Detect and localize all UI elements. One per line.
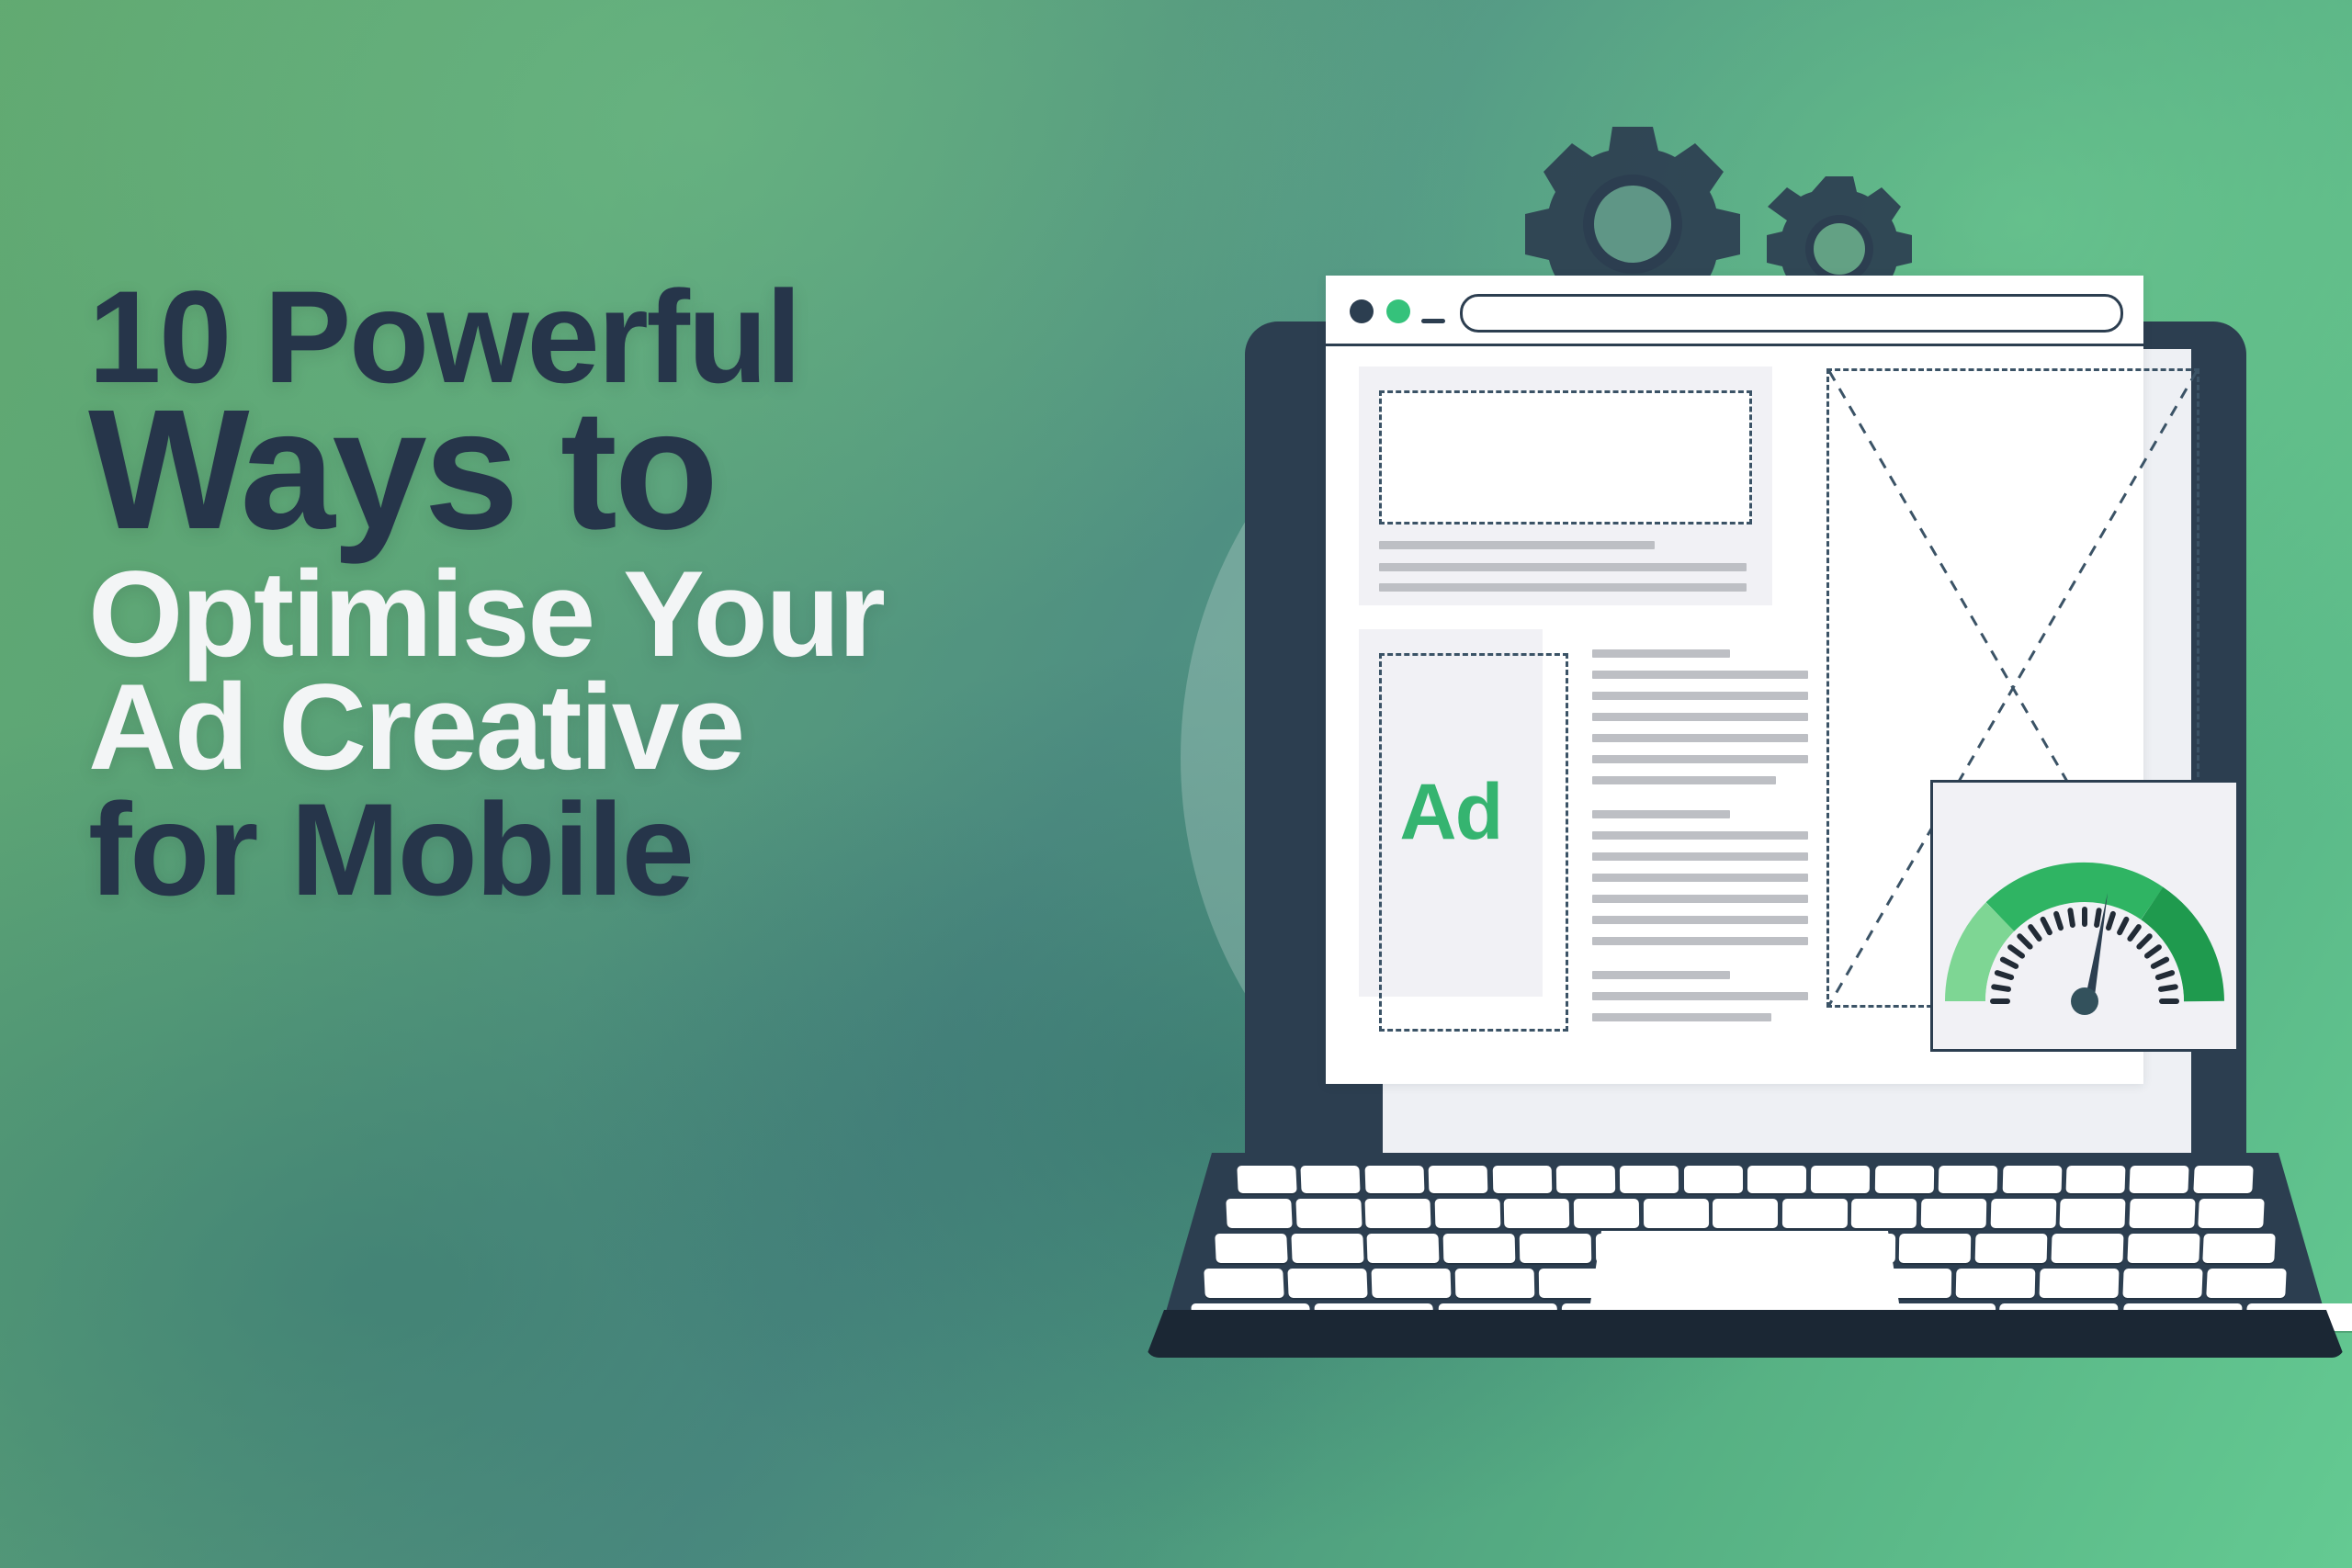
keyboard-key[interactable] — [1367, 1234, 1440, 1263]
browser-window: Ad — [1326, 276, 2143, 1084]
keyboard-key[interactable] — [1620, 1166, 1679, 1193]
keyboard-key[interactable] — [1226, 1199, 1292, 1228]
gauge-tick — [1994, 987, 2008, 989]
keyboard-key[interactable] — [1215, 1234, 1287, 1263]
browser-chrome-bar — [1326, 276, 2143, 346]
ad-placeholder-box — [1379, 653, 1568, 1032]
url-input[interactable] — [1460, 294, 2123, 333]
keyboard-key[interactable] — [1301, 1166, 1362, 1193]
minimize-dash-icon[interactable] — [1421, 319, 1445, 323]
text-line — [1592, 755, 1808, 763]
keyboard-key[interactable] — [1443, 1234, 1516, 1263]
headline-line-4: Ad Creative — [88, 670, 1209, 786]
keyboard-key[interactable] — [2206, 1269, 2286, 1298]
text-line — [1379, 583, 1747, 592]
keyboard-key[interactable] — [1454, 1269, 1534, 1298]
text-line — [1592, 713, 1808, 721]
keyboard-key[interactable] — [2040, 1269, 2120, 1298]
keyboard-key[interactable] — [1237, 1166, 1297, 1193]
keyboard-key[interactable] — [1782, 1199, 1848, 1228]
keyboard-key[interactable] — [1975, 1234, 2048, 1263]
keyboard-key[interactable] — [2065, 1166, 2125, 1193]
keyboard-key[interactable] — [1520, 1234, 1591, 1263]
keyboard-key[interactable] — [2129, 1199, 2195, 1228]
speedometer-card — [1930, 780, 2239, 1052]
keyboard-key[interactable] — [1939, 1166, 1998, 1193]
keyboard-key[interactable] — [1287, 1269, 1367, 1298]
text-line — [1592, 937, 1808, 945]
window-dot-green-icon[interactable] — [1386, 299, 1410, 323]
text-line — [1379, 541, 1655, 549]
keyboard-key[interactable] — [1364, 1166, 1424, 1193]
keyboard-key[interactable] — [2130, 1166, 2190, 1193]
text-line — [1379, 563, 1747, 571]
keyboard-key[interactable] — [1899, 1234, 1971, 1263]
keyboard-key[interactable] — [1371, 1269, 1451, 1298]
keyboard-key[interactable] — [1434, 1199, 1499, 1228]
keyboard-key[interactable] — [2002, 1166, 2062, 1193]
text-line — [1592, 971, 1730, 979]
keyboard-key[interactable] — [1713, 1199, 1778, 1228]
keyboard-key[interactable] — [1811, 1166, 1871, 1193]
keyboard-key[interactable] — [1556, 1166, 1616, 1193]
keyboard-key[interactable] — [2203, 1234, 2276, 1263]
keyboard-key[interactable] — [2051, 1234, 2123, 1263]
headline-line-2: Ways to — [88, 389, 1209, 552]
keyboard-key[interactable] — [1643, 1199, 1708, 1228]
text-line — [1592, 810, 1730, 818]
gauge-tick — [2161, 987, 2176, 989]
text-line — [1592, 1013, 1771, 1021]
keyboard-key[interactable] — [2193, 1166, 2254, 1193]
keyboard-key[interactable] — [1921, 1199, 1986, 1228]
browser-page-content: Ad — [1326, 346, 2143, 1084]
keyboard-key[interactable] — [2122, 1269, 2202, 1298]
gauge-tick — [2097, 910, 2099, 925]
keyboard-key[interactable] — [1504, 1199, 1569, 1228]
keyboard-key[interactable] — [1204, 1269, 1283, 1298]
text-line — [1592, 992, 1808, 1000]
keyboard-key[interactable] — [1492, 1166, 1552, 1193]
laptop-illustration: Ad — [1144, 110, 2352, 1424]
keyboard-key[interactable] — [1851, 1199, 1917, 1228]
text-line — [1592, 916, 1808, 924]
keyboard-key[interactable] — [1295, 1199, 1362, 1228]
headline-line-5: for Mobile — [88, 788, 1209, 914]
keyboard-key[interactable] — [1875, 1166, 1935, 1193]
keyboard-key[interactable] — [1574, 1199, 1639, 1228]
keyboard-key[interactable] — [2060, 1199, 2126, 1228]
text-line — [1592, 671, 1808, 679]
gauge-tick — [2070, 910, 2073, 925]
keyboard-key[interactable] — [1990, 1199, 2055, 1228]
text-line — [1592, 776, 1776, 784]
keyboard-key[interactable] — [1429, 1166, 1488, 1193]
keyboard-key[interactable] — [1365, 1199, 1431, 1228]
keyboard-key[interactable] — [2127, 1234, 2199, 1263]
keyboard-key[interactable] — [1291, 1234, 1363, 1263]
headline-line-3: Optimise Your — [88, 557, 1209, 673]
keyboard-key[interactable] — [1747, 1166, 1806, 1193]
speedometer-gauge — [1933, 783, 2236, 1049]
keyboard-key[interactable] — [2199, 1199, 2265, 1228]
laptop-trackpad[interactable] — [1589, 1231, 1901, 1315]
text-line — [1592, 852, 1808, 861]
laptop-base-lip — [1146, 1310, 2345, 1358]
text-line — [1592, 874, 1808, 882]
text-line — [1592, 895, 1808, 903]
headline-block: 10 Powerful Ways to Optimise Your Ad Cre… — [88, 276, 1209, 914]
text-line — [1592, 831, 1808, 840]
keyboard-key[interactable] — [1956, 1269, 2036, 1298]
hero-placeholder-box — [1379, 390, 1752, 525]
text-line — [1592, 734, 1808, 742]
text-line — [1592, 649, 1730, 658]
poster-canvas: 10 Powerful Ways to Optimise Your Ad Cre… — [0, 0, 2352, 1568]
keyboard-key[interactable] — [1684, 1166, 1743, 1193]
window-dot-dark-icon[interactable] — [1350, 299, 1374, 323]
text-line — [1592, 692, 1808, 700]
